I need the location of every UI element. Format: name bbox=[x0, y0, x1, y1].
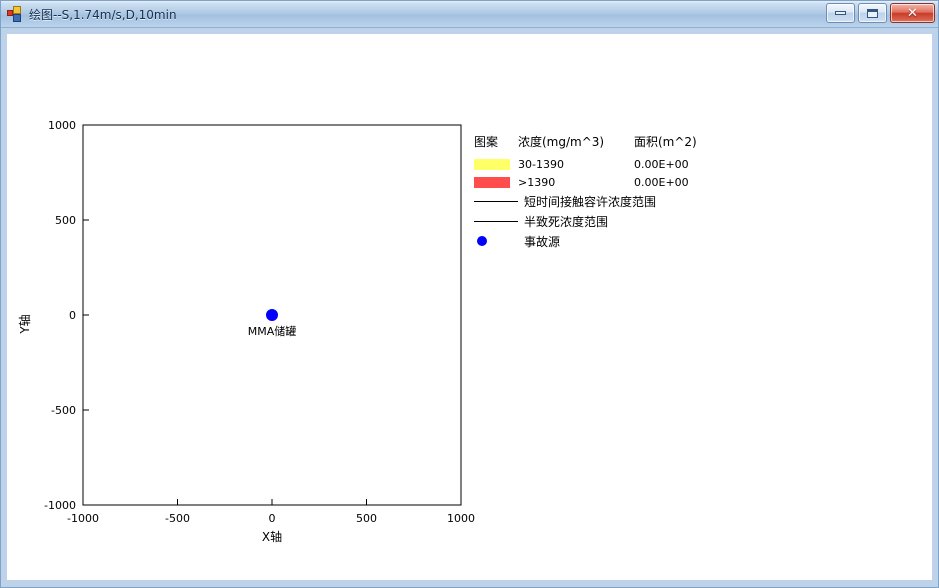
legend-line-sample bbox=[474, 221, 518, 222]
y-axis-title: Y轴 bbox=[17, 314, 32, 334]
y-tick-label: 500 bbox=[55, 214, 76, 227]
close-icon: ✕ bbox=[907, 7, 918, 20]
legend-area-value: 0.00E+00 bbox=[634, 158, 689, 171]
client-area: -1000-50005001000 -1000-50005001000 X轴 Y… bbox=[7, 34, 932, 580]
legend: 图案 浓度(mg/m^3) 面积(m^2) 30-1390 0.00E+00 >… bbox=[474, 133, 704, 251]
legend-row: 短时间接触容许浓度范围 bbox=[474, 191, 704, 211]
x-tick-label: 1000 bbox=[447, 512, 475, 525]
x-axis-tick-labels: -1000-50005001000 bbox=[67, 512, 475, 525]
legend-marker-sample bbox=[474, 236, 518, 246]
legend-swatch-yellow bbox=[474, 159, 510, 170]
maximize-button[interactable] bbox=[858, 3, 887, 23]
window-title: 绘图--S,1.74m/s,D,10min bbox=[29, 6, 177, 23]
plot-window: 绘图--S,1.74m/s,D,10min ✕ -1000-5000500100… bbox=[0, 0, 939, 588]
y-tick-label: 0 bbox=[69, 309, 76, 322]
x-tick-label: 0 bbox=[269, 512, 276, 525]
legend-line-label: 半致死浓度范围 bbox=[524, 213, 608, 230]
legend-area-value: 0.00E+00 bbox=[634, 176, 689, 189]
y-tick-label: -1000 bbox=[44, 499, 76, 512]
legend-header-row: 图案 浓度(mg/m^3) 面积(m^2) bbox=[474, 133, 704, 150]
legend-line-label: 短时间接触容许浓度范围 bbox=[524, 193, 656, 210]
legend-row: >1390 0.00E+00 bbox=[474, 173, 704, 191]
x-tick-label: -1000 bbox=[67, 512, 99, 525]
legend-concentration-label: >1390 bbox=[518, 176, 634, 189]
x-axis-title: X轴 bbox=[262, 529, 282, 544]
legend-row: 事故源 bbox=[474, 231, 704, 251]
title-bar[interactable]: 绘图--S,1.74m/s,D,10min ✕ bbox=[1, 1, 938, 28]
minimize-icon bbox=[835, 11, 846, 15]
plot-canvas: -1000-50005001000 -1000-50005001000 X轴 Y… bbox=[7, 34, 932, 580]
y-tick-label: -500 bbox=[51, 404, 76, 417]
x-tick-label: 500 bbox=[356, 512, 377, 525]
legend-line-sample bbox=[474, 201, 518, 202]
maximize-icon bbox=[867, 9, 878, 18]
legend-concentration-label: 30-1390 bbox=[518, 158, 634, 171]
y-axis-tick-labels: -1000-50005001000 bbox=[44, 119, 76, 512]
plot-app-icon bbox=[7, 6, 23, 22]
window-controls: ✕ bbox=[826, 3, 935, 23]
close-button[interactable]: ✕ bbox=[890, 3, 935, 23]
minimize-button[interactable] bbox=[826, 3, 855, 23]
legend-marker-label: 事故源 bbox=[524, 233, 560, 250]
legend-header-pattern: 图案 bbox=[474, 133, 518, 150]
data-point-label: MMA储罐 bbox=[248, 324, 297, 338]
legend-swatch-red bbox=[474, 177, 510, 188]
client-area-padding: -1000-50005001000 -1000-50005001000 X轴 Y… bbox=[1, 28, 938, 587]
legend-header-concentration: 浓度(mg/m^3) bbox=[518, 133, 634, 150]
legend-row: 30-1390 0.00E+00 bbox=[474, 155, 704, 173]
data-point-marker[interactable] bbox=[266, 309, 278, 321]
legend-header-area: 面积(m^2) bbox=[634, 133, 704, 150]
y-tick-label: 1000 bbox=[48, 119, 76, 132]
x-tick-label: -500 bbox=[165, 512, 190, 525]
legend-row: 半致死浓度范围 bbox=[474, 211, 704, 231]
